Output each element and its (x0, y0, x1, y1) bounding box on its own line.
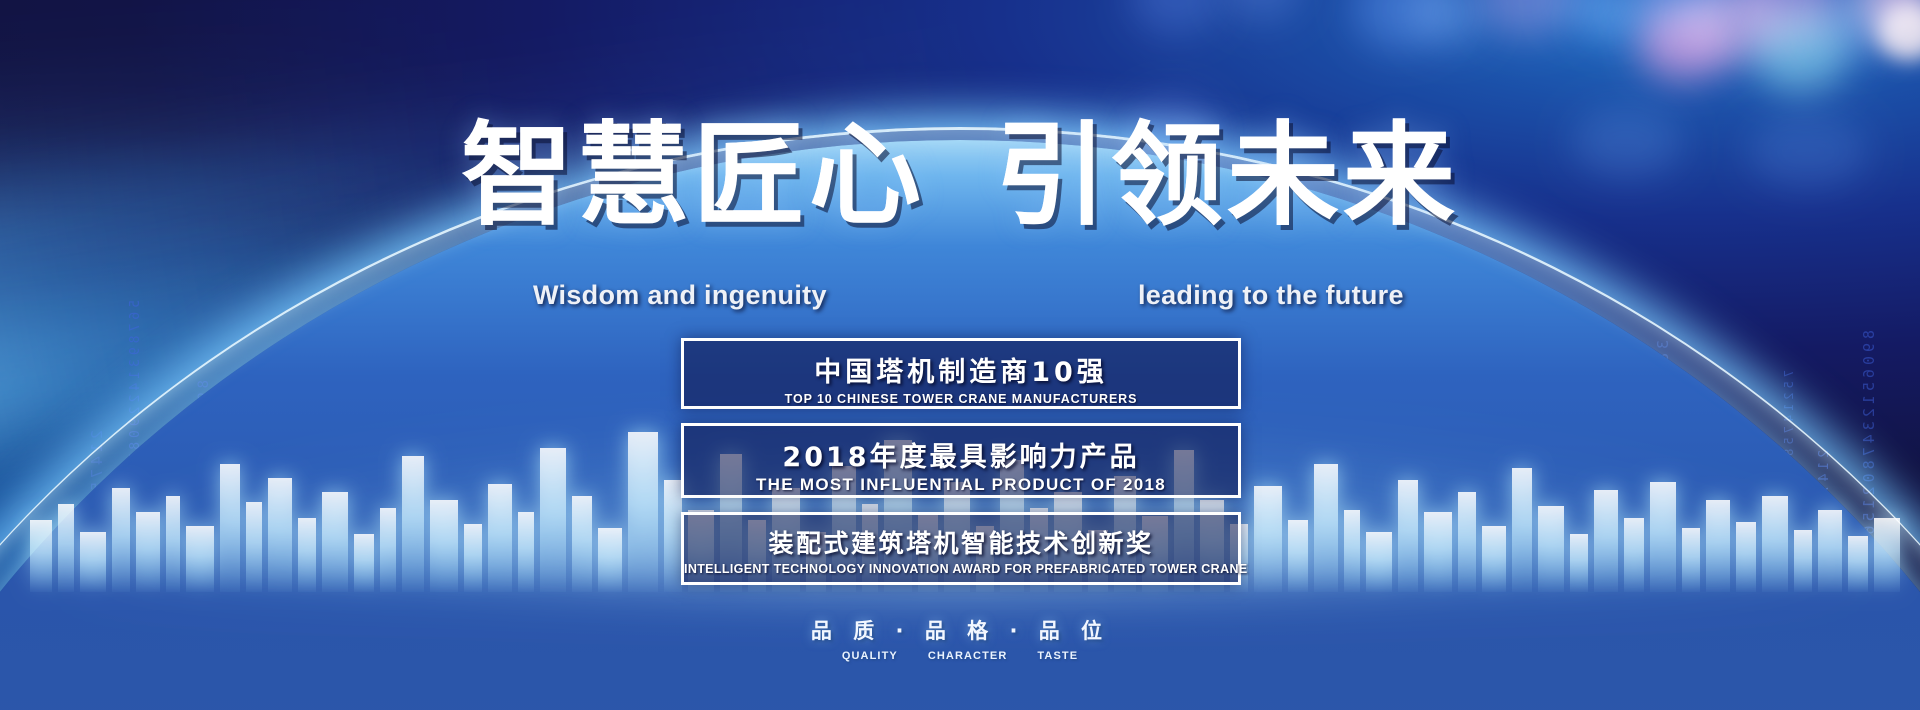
award-title-en: THE MOST INFLUENTIAL PRODUCT OF 2018 (684, 475, 1238, 495)
headline-right-en: leading to the future (1138, 280, 1404, 311)
award-title-en: TOP 10 CHINESE TOWER CRANE MANUFACTURERS (684, 392, 1238, 406)
award-title-cn: 中国塔机制造商10强 (684, 350, 1238, 389)
slogan-cn: 品 质 · 品 格 · 品 位 (0, 615, 1920, 645)
award-list: 中国塔机制造商10强 TOP 10 CHINESE TOWER CRANE MA… (681, 338, 1241, 599)
slogan-en-character: CHARACTER (928, 650, 1008, 662)
slogan-en-taste: TASTE (1037, 650, 1078, 662)
slogan-block: 品 质 · 品 格 · 品 位 QUALITYCHARACTERTASTE (0, 615, 1920, 662)
slogan-en-quality: QUALITY (842, 650, 898, 662)
headline-row: 智慧匠心引领未来 (0, 120, 1920, 232)
award-title-cn: 装配式建筑塔机智能技术创新奖 (684, 524, 1238, 560)
headline-right-cn: 引领未来 (995, 120, 1459, 232)
award-title-en: INTELLIGENT TECHNOLOGY INNOVATION AWARD … (684, 562, 1238, 576)
headline-left-cn: 智慧匠心 (461, 120, 925, 232)
headline-left-en: Wisdom and ingenuity (533, 280, 827, 311)
award-title-cn: 2018年度最具影响力产品 (684, 435, 1238, 474)
award-box-innovation-award: 装配式建筑塔机智能技术创新奖 INTELLIGENT TECHNOLOGY IN… (681, 512, 1241, 585)
award-box-top10: 中国塔机制造商10强 TOP 10 CHINESE TOWER CRANE MA… (681, 338, 1241, 409)
banner-stage: 2147582390687521 5678931422908715 154238… (0, 0, 1920, 710)
award-box-influential-product: 2018年度最具影响力产品 THE MOST INFLUENTIAL PRODU… (681, 423, 1241, 498)
slogan-en: QUALITYCHARACTERTASTE (0, 650, 1920, 662)
